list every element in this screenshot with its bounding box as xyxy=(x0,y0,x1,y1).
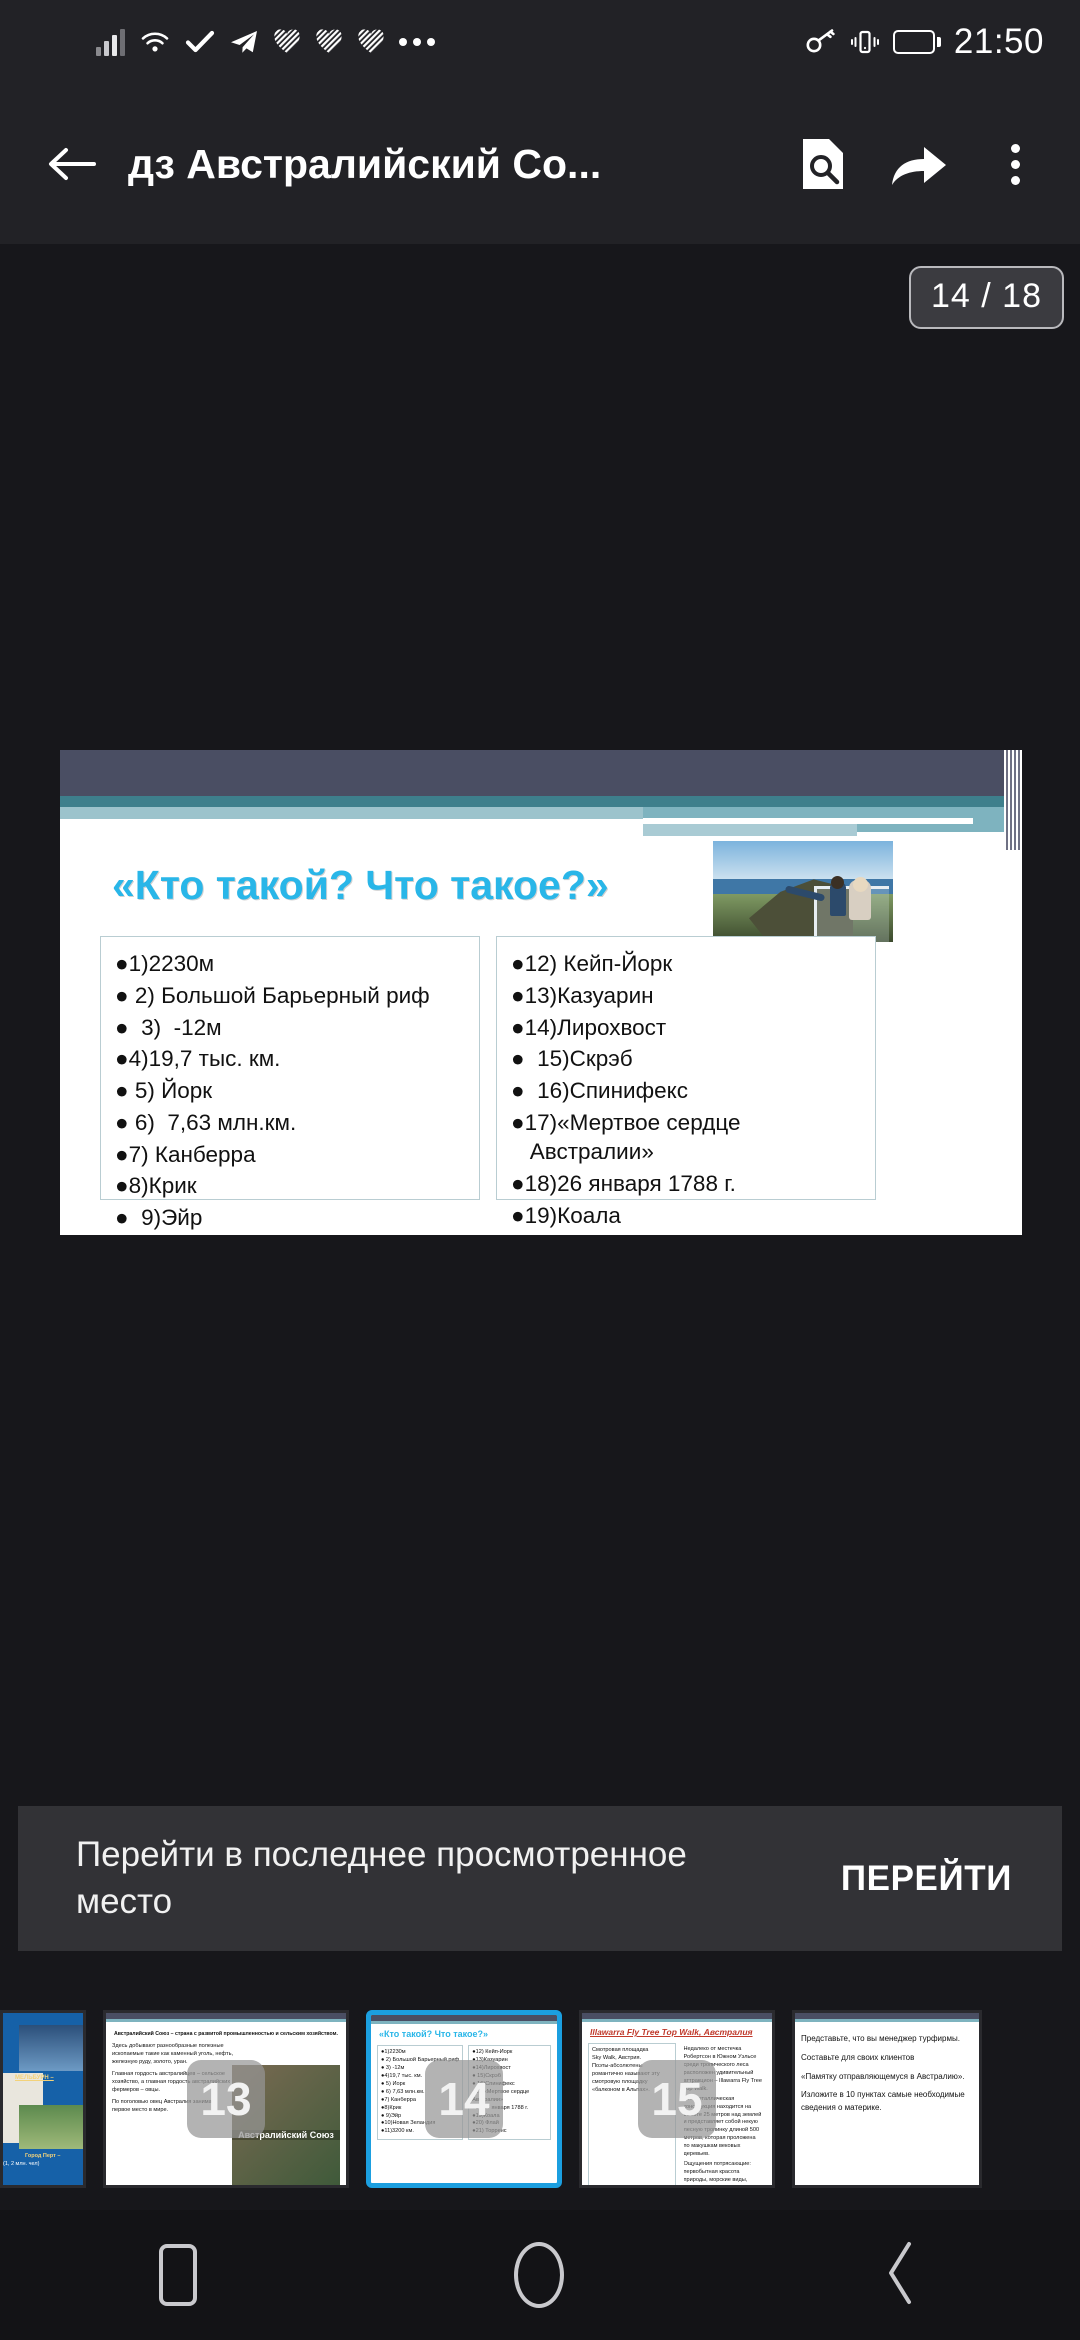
list-item: ● 15)Скрэб xyxy=(511,1044,865,1073)
thumb-title: «Кто такой? Что такое?» xyxy=(379,2029,557,2039)
lookout-photo xyxy=(713,841,893,942)
page-indicator: 14 / 18 xyxy=(909,266,1064,329)
status-bar-right-icons: 21:50 xyxy=(805,22,1044,62)
slide-accent-bar-pale xyxy=(643,824,857,836)
overflow-menu-icon[interactable] xyxy=(972,121,1058,207)
snackbar-action-button[interactable]: ПЕРЕЙТИ xyxy=(841,1859,1012,1899)
photo-sky xyxy=(713,841,893,881)
list-item: ●1)2230м xyxy=(115,949,469,978)
more-dots-icon xyxy=(399,38,435,46)
resume-snackbar: Перейти в последнее просмотренное место … xyxy=(18,1806,1062,1951)
thumb-bullets: Представьте, что вы менеджер турфирмы. С… xyxy=(801,2033,973,2115)
thumb-caption: (1, 2 млн. чел) xyxy=(3,2161,39,2167)
slide-page[interactable]: «Кто такой? Что такое?» ●1)2230м ● 2) Бо… xyxy=(60,750,1022,1235)
app-bar-actions xyxy=(780,121,1058,207)
thumb-page-number: 15 xyxy=(638,2060,716,2138)
document-search-icon[interactable] xyxy=(780,121,866,207)
slide-columns: ●1)2230м ● 2) Большой Барьерный риф ● 3)… xyxy=(100,936,876,1200)
vibrate-icon xyxy=(850,28,880,56)
list-item: ●4)19,7 тыс. км. xyxy=(115,1044,469,1073)
list-item: ●12) Кейп-Йорк xyxy=(511,949,865,978)
wifi-icon xyxy=(139,29,171,55)
list-item: ● 9)Эйр xyxy=(115,1203,469,1232)
slide-title: «Кто такой? Что такое?» xyxy=(112,862,609,909)
thumbnail-page-12[interactable]: МЕЛЬБУРН – Город Перт – (1, 2 млн. чел) xyxy=(0,2010,86,2188)
list-item: ●18)26 января 1788 г. xyxy=(511,1169,865,1198)
list-item: Изложите в 10 пунктах самые необходимые … xyxy=(801,2089,973,2115)
list-item: Смотровая площадка xyxy=(592,2047,672,2055)
status-bar-left-icons xyxy=(96,29,435,56)
phone-screen: 21:50 дз Австралийский Со... 14 / 18 xyxy=(0,0,1080,2340)
slide-header-band xyxy=(60,750,1022,796)
list-item: ●14)Лирохвост xyxy=(511,1013,865,1042)
thumb-band-teal xyxy=(371,2021,557,2024)
list-item: ●17)«Мертвое сердце Австралии» xyxy=(511,1108,865,1167)
thumb-page-number: 13 xyxy=(187,2060,265,2138)
back-chevron-icon[interactable] xyxy=(881,2240,921,2311)
thumbnail-page-13[interactable]: Австралийский Союз – страна с развитой п… xyxy=(103,2010,349,2188)
list-item: Составьте для своих клиентов xyxy=(801,2052,973,2065)
list-item: Представьте, что вы менеджер турфирмы. xyxy=(801,2033,973,2046)
thumbnail-page-15[interactable]: Illawarra Fly Tree Top Walk, Австралия С… xyxy=(579,2010,775,2188)
list-item: Ощущения потрясающие: первобытная красот… xyxy=(684,2161,764,2188)
left-answer-list: ●1)2230м ● 2) Большой Барьерный риф ● 3)… xyxy=(115,949,469,1235)
right-answer-list: ●12) Кейп-Йорк ●13)Казуарин ●14)Лирохвос… xyxy=(511,949,865,1235)
battery-icon xyxy=(893,30,941,54)
list-item: ●13)Казуарин xyxy=(511,981,865,1010)
heart-icon xyxy=(315,29,343,55)
list-item: ● 16)Спинифекс xyxy=(511,1076,865,1105)
thumb-photo xyxy=(19,2025,85,2071)
list-item: ● 3) -12м xyxy=(115,1013,469,1042)
thumb-title: Illawarra Fly Tree Top Walk, Австралия xyxy=(590,2027,772,2037)
list-item: ●7) Канберра xyxy=(115,1140,469,1169)
thumb-caption: Город Перт – xyxy=(25,2153,60,2159)
slide-header-band-teal xyxy=(60,796,1022,807)
back-button[interactable] xyxy=(24,142,120,186)
thumbnail-page-14[interactable]: «Кто такой? Что такое?» ●1)2230м ● 2) Бо… xyxy=(366,2010,562,2188)
list-item: ● 5) Йорк xyxy=(115,1076,469,1105)
thumb-photo xyxy=(19,2105,85,2149)
thumb-band-teal xyxy=(106,2019,346,2022)
heart-icon xyxy=(357,29,385,55)
slide-decor-stripes xyxy=(1004,750,1022,850)
thumb-page-number: 14 xyxy=(425,2060,503,2138)
telegram-icon xyxy=(229,29,259,55)
slide-left-column: ●1)2230м ● 2) Большой Барьерный риф ● 3)… xyxy=(100,936,480,1200)
app-bar: дз Австралийский Со... xyxy=(0,84,1080,244)
status-bar: 21:50 xyxy=(0,0,1080,84)
slide-header-band-light xyxy=(60,807,643,819)
list-item: ●1)2230м xyxy=(381,2049,459,2057)
snackbar-message: Перейти в последнее просмотренное место xyxy=(76,1832,716,1924)
key-vpn-icon xyxy=(805,29,837,55)
list-item: ●19)Коала xyxy=(511,1201,865,1230)
system-navigation-bar xyxy=(0,2210,1080,2340)
recents-square-icon[interactable] xyxy=(159,2244,197,2306)
photo-person-two-head xyxy=(853,877,868,892)
check-icon xyxy=(185,29,215,55)
home-circle-icon[interactable] xyxy=(514,2242,564,2308)
list-item: ●20) Флай xyxy=(511,1232,865,1235)
thumbnail-page-16[interactable]: Представьте, что вы менеджер турфирмы. С… xyxy=(792,2010,982,2188)
status-bar-clock: 21:50 xyxy=(954,22,1044,62)
list-item: «Памятку отправляющемуся в Австралию». xyxy=(801,2071,973,2084)
thumbnail-strip[interactable]: МЕЛЬБУРН – Город Перт – (1, 2 млн. чел) … xyxy=(0,2004,1080,2194)
heart-icon xyxy=(273,29,301,55)
thumb-band-teal xyxy=(795,2019,979,2022)
list-item: ●12) Кейп-Йорк xyxy=(472,2049,547,2057)
list-item: ● 6) 7,63 млн.км. xyxy=(115,1108,469,1137)
thumb-band-teal xyxy=(582,2019,772,2022)
document-viewer[interactable]: 14 / 18 «Кто такой? Что такое?» xyxy=(0,244,1080,1794)
page-title: дз Австралийский Со... xyxy=(128,141,780,188)
thumb-caption: МЕЛЬБУРН – xyxy=(15,2075,54,2081)
list-item: ●8)Крик xyxy=(115,1171,469,1200)
list-item: ● 2) Большой Барьерный риф xyxy=(115,981,469,1010)
signal-bars-icon xyxy=(96,29,125,56)
thumb-heading: Австралийский Союз – страна с развитой п… xyxy=(114,2031,338,2038)
slide-right-column: ●12) Кейп-Йорк ●13)Казуарин ●14)Лирохвос… xyxy=(496,936,876,1200)
share-icon[interactable] xyxy=(876,121,962,207)
